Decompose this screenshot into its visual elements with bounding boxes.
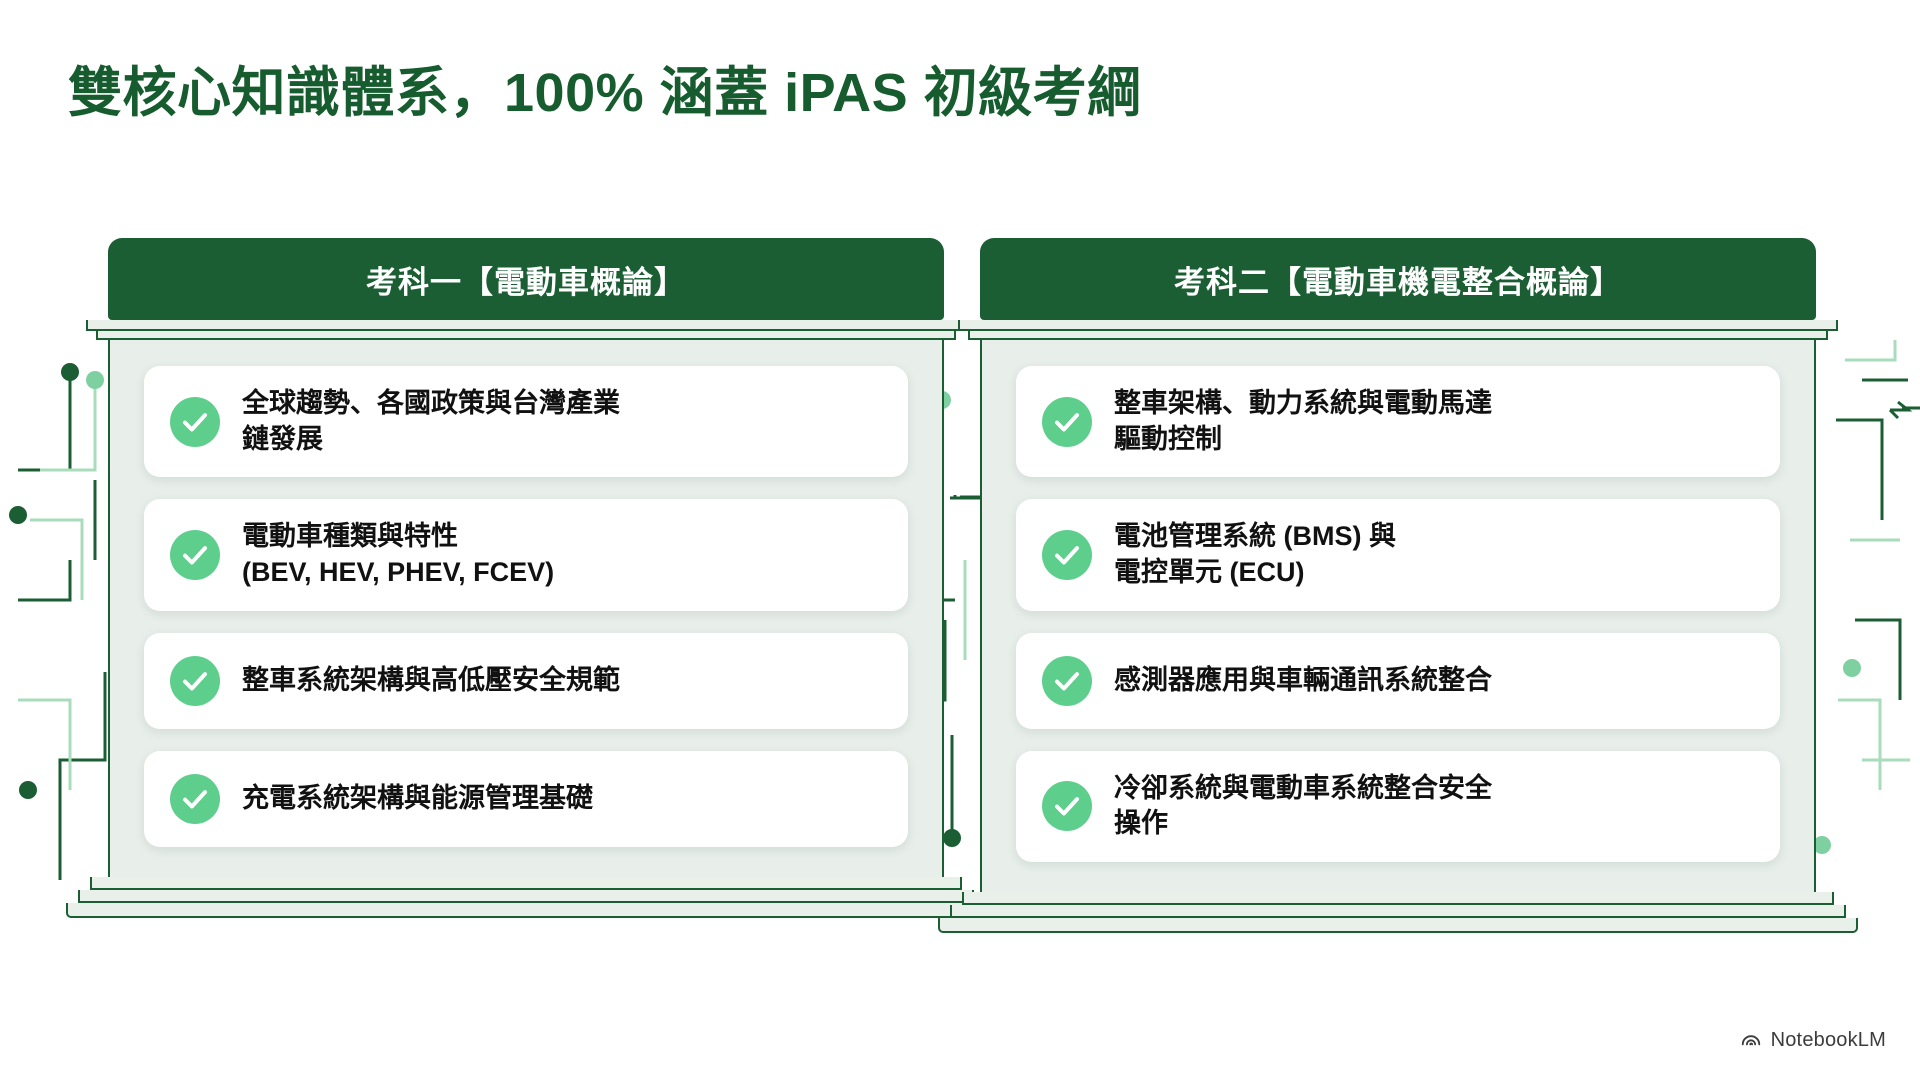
list-item-label: 電池管理系統 (BMS) 與 電控單元 (ECU) <box>1114 519 1396 590</box>
check-circle-icon <box>1042 397 1092 447</box>
pillar-header-2: 考科二【電動車機電整合概論】 <box>980 238 1816 320</box>
check-circle-icon <box>170 656 220 706</box>
list-item[interactable]: 全球趨勢、各國政策與台灣產業 鏈發展 <box>144 366 908 477</box>
pillar-shaft-2: 整車架構、動力系統與電動馬達 驅動控制 電池管理系統 (BMS) 與 電控單元 … <box>980 340 1816 892</box>
check-circle-icon <box>1042 781 1092 831</box>
notebooklm-spiral-icon <box>1740 1027 1762 1054</box>
list-item-label: 整車系統架構與高低壓安全規範 <box>242 663 620 699</box>
pillar-base-1 <box>108 877 944 918</box>
pillar-base-2 <box>980 892 1816 933</box>
pillar-column-1: 考科一【電動車概論】 全球趨勢、各國政策與台灣產業 鏈發展 <box>108 238 944 918</box>
check-circle-icon <box>170 530 220 580</box>
pillar-header-title-1: 考科一【電動車概論】 <box>366 257 686 302</box>
list-item-label: 感測器應用與車輛通訊系統整合 <box>1114 663 1492 699</box>
pillar-capital-1 <box>86 320 966 340</box>
pillar-capital-2 <box>958 320 1838 340</box>
pillar-column-2: 考科二【電動車機電整合概論】 整車架構、動力系統與電動馬達 驅動控制 <box>980 238 1816 933</box>
list-item[interactable]: 電動車種類與特性 (BEV, HEV, PHEV, FCEV) <box>144 499 908 610</box>
watermark: NotebookLM <box>1740 1027 1886 1054</box>
pillar-header-title-2: 考科二【電動車機電整合概論】 <box>1174 257 1622 302</box>
list-item-label: 冷卻系統與電動車系統整合安全 操作 <box>1114 771 1492 842</box>
list-item-label: 整車架構、動力系統與電動馬達 驅動控制 <box>1114 386 1492 457</box>
list-item[interactable]: 電池管理系統 (BMS) 與 電控單元 (ECU) <box>1016 499 1780 610</box>
list-item[interactable]: 整車架構、動力系統與電動馬達 驅動控制 <box>1016 366 1780 477</box>
check-circle-icon <box>170 774 220 824</box>
check-circle-icon <box>170 397 220 447</box>
pillar-shaft-1: 全球趨勢、各國政策與台灣產業 鏈發展 電動車種類與特性 (BEV, HEV, P… <box>108 340 944 877</box>
list-item[interactable]: 冷卻系統與電動車系統整合安全 操作 <box>1016 751 1780 862</box>
check-circle-icon <box>1042 530 1092 580</box>
infographic-canvas: 雙核心知識體系，100% 涵蓋 iPAS 初級考綱 考科一【電動車概論】 全球趨… <box>0 0 1920 1080</box>
pillar-header-1: 考科一【電動車概論】 <box>108 238 944 320</box>
list-item[interactable]: 充電系統架構與能源管理基礎 <box>144 751 908 847</box>
list-item[interactable]: 感測器應用與車輛通訊系統整合 <box>1016 633 1780 729</box>
check-circle-icon <box>1042 656 1092 706</box>
list-item[interactable]: 整車系統架構與高低壓安全規範 <box>144 633 908 729</box>
list-item-label: 電動車種類與特性 (BEV, HEV, PHEV, FCEV) <box>242 519 554 590</box>
list-item-label: 充電系統架構與能源管理基礎 <box>242 781 593 817</box>
list-item-label: 全球趨勢、各國政策與台灣產業 鏈發展 <box>242 386 620 457</box>
watermark-label: NotebookLM <box>1771 1029 1886 1052</box>
page-title: 雙核心知識體系，100% 涵蓋 iPAS 初級考綱 <box>68 48 1142 127</box>
